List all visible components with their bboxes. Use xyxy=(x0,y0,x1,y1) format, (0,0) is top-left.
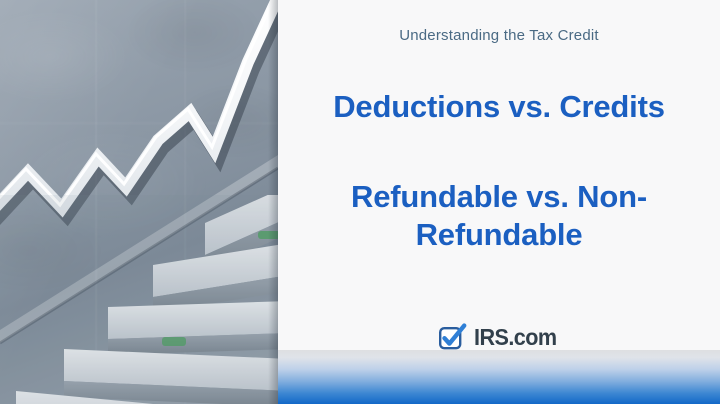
bottom-gradient-bar xyxy=(278,350,720,404)
headline-deductions-vs-credits: Deductions vs. Credits xyxy=(278,88,720,126)
content-panel: Understanding the Tax Credit Deductions … xyxy=(278,0,720,404)
hero-photo xyxy=(0,0,278,404)
eyebrow-subtitle: Understanding the Tax Credit xyxy=(278,27,720,44)
irs-logo[interactable]: IRS.com xyxy=(278,322,720,352)
concrete-stairs xyxy=(0,195,278,404)
checkbox-check-icon xyxy=(437,322,467,352)
photo-edge-shadow xyxy=(268,0,278,404)
headline-group: Deductions vs. Credits Refundable vs. No… xyxy=(278,88,720,254)
headline-refundable-vs-nonrefundable: Refundable vs. Non-Refundable xyxy=(278,178,720,254)
irs-wordmark: IRS.com xyxy=(474,326,557,349)
slide: Understanding the Tax Credit Deductions … xyxy=(0,0,720,404)
